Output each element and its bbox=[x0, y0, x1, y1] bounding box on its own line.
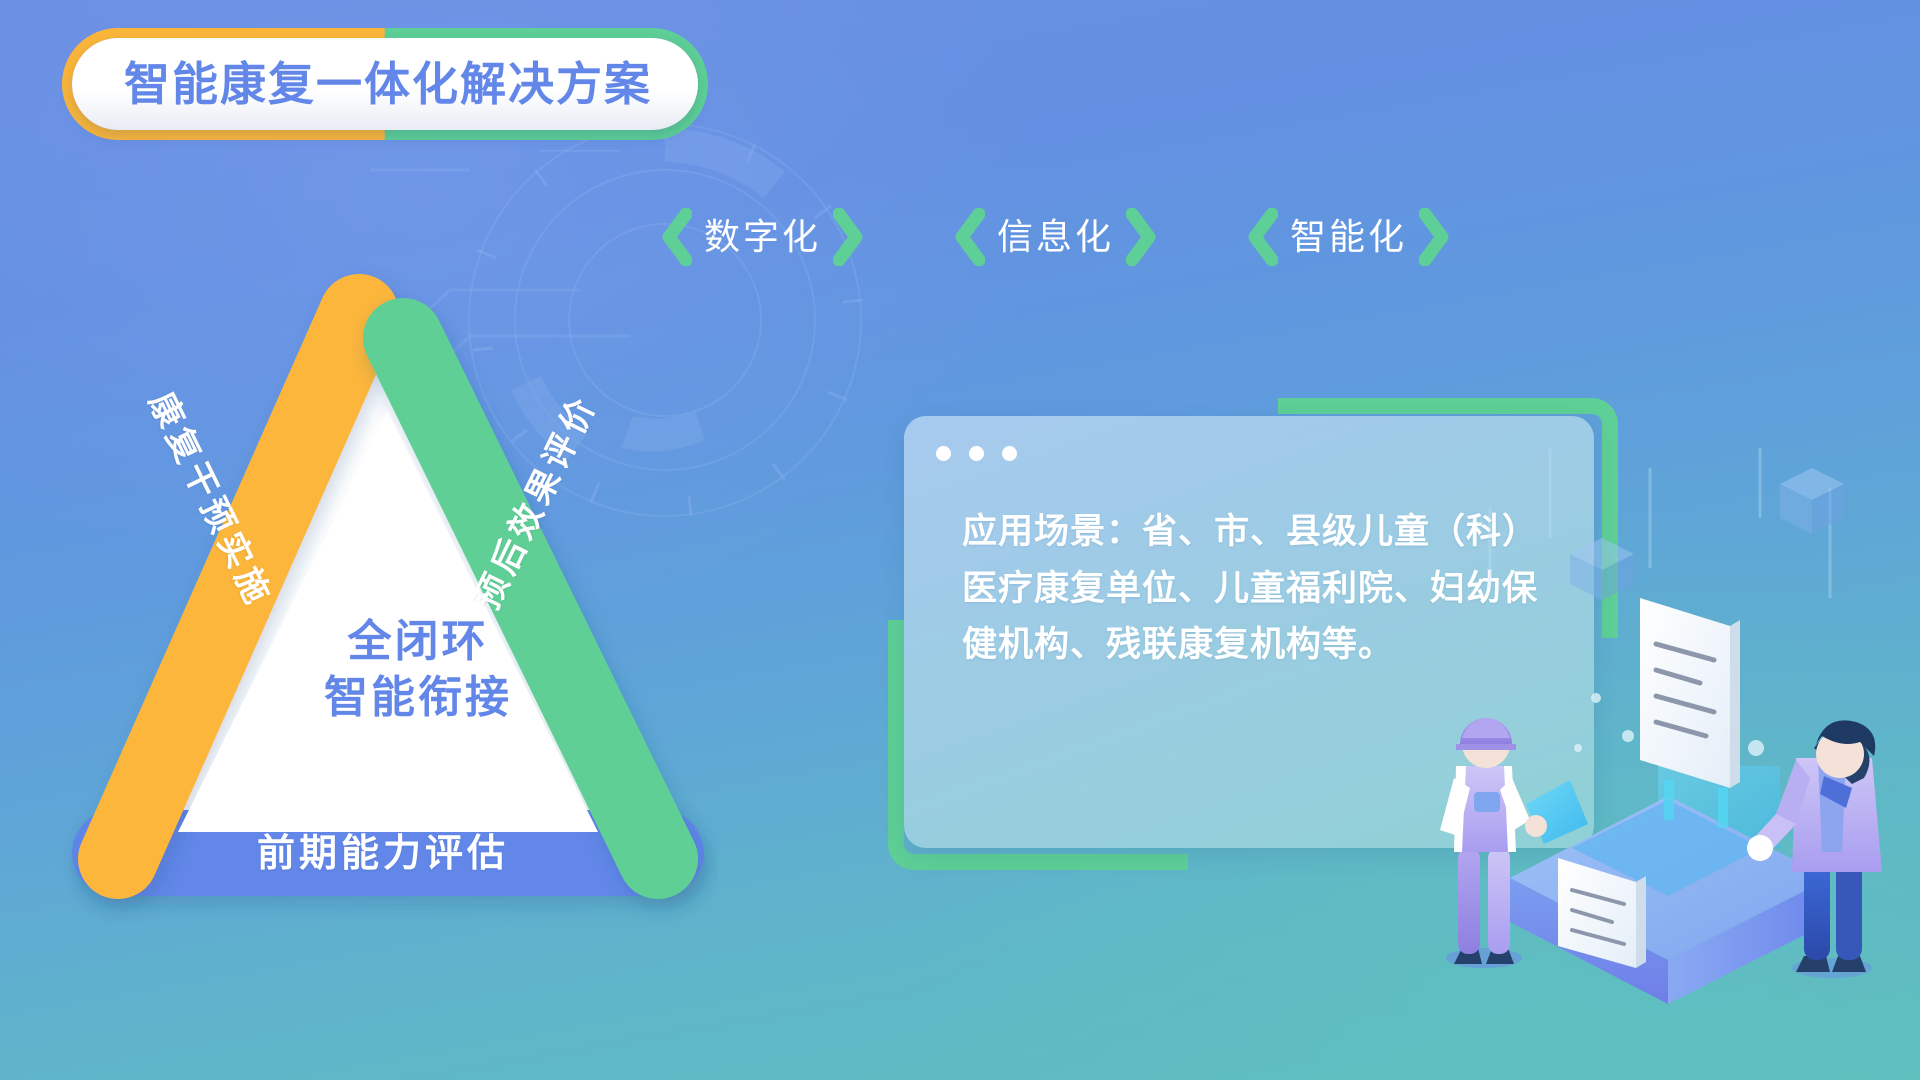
floating-cube-icon bbox=[1780, 468, 1844, 534]
tag-label: 信息化 bbox=[997, 219, 1114, 255]
title-pill: 智能康复一体化解决方案 bbox=[72, 38, 698, 130]
triangle-bottom-label: 前期能力评估 bbox=[218, 822, 548, 877]
window-dot-icon bbox=[936, 446, 951, 461]
tag-item-digital[interactable]: 数字化 bbox=[660, 208, 865, 266]
triangle-center-line-2: 智能衔接 bbox=[298, 670, 538, 726]
tag-item-informatization[interactable]: 信息化 bbox=[953, 208, 1158, 266]
title-text: 智能康复一体化解决方案 bbox=[124, 61, 652, 107]
chevron-right-icon bbox=[833, 208, 865, 266]
window-dot-icon bbox=[1002, 446, 1017, 461]
tag-item-intelligent[interactable]: 智能化 bbox=[1246, 208, 1451, 266]
window-dots bbox=[936, 446, 1017, 461]
chevron-right-icon bbox=[1126, 208, 1158, 266]
tag-label: 智能化 bbox=[1290, 219, 1407, 255]
page-title: 智能康复一体化解决方案 bbox=[72, 38, 698, 130]
slide-canvas: 智能康复一体化解决方案 数字化 信息化 智能化 bbox=[0, 0, 1920, 1080]
window-dot-icon bbox=[969, 446, 984, 461]
triangle-center-line-1: 全闭环 bbox=[298, 614, 538, 670]
tag-label: 数字化 bbox=[704, 219, 821, 255]
triangle-center-text: 全闭环 智能衔接 bbox=[298, 614, 538, 727]
chevron-left-icon bbox=[1246, 208, 1278, 266]
chevron-right-icon bbox=[1419, 208, 1451, 266]
closed-loop-triangle-diagram: 康复干预实施 预后效果评价 前期能力评估 全闭环 智能衔接 bbox=[58, 262, 718, 922]
chevron-left-icon bbox=[660, 208, 692, 266]
isometric-illustration bbox=[1400, 448, 1920, 1008]
tag-list: 数字化 信息化 智能化 bbox=[660, 196, 1420, 278]
chevron-left-icon bbox=[953, 208, 985, 266]
floating-cube-icon bbox=[1570, 538, 1634, 600]
